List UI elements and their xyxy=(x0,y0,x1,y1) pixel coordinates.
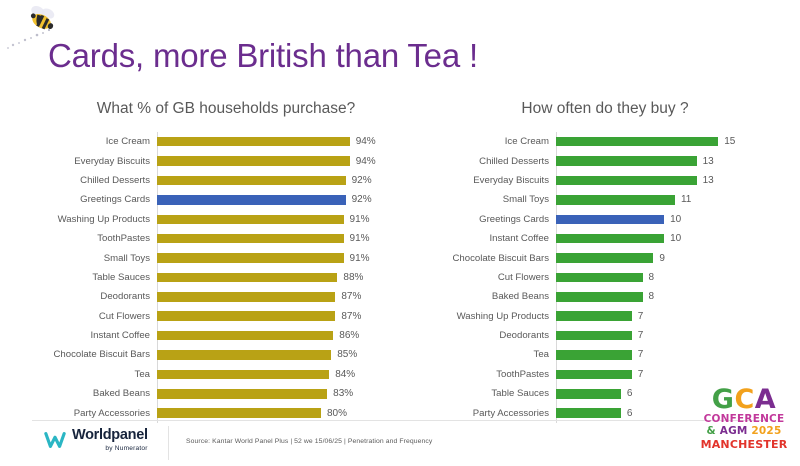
bar-area: 91% xyxy=(157,229,406,248)
bar xyxy=(556,408,621,418)
bar xyxy=(556,137,718,147)
bar-area: 83% xyxy=(157,384,406,403)
bar-area: 94% xyxy=(157,132,406,151)
bee-icon xyxy=(26,6,60,36)
chart-row: Chilled Desserts13 xyxy=(420,151,780,170)
bar xyxy=(157,234,344,244)
bar-area: 92% xyxy=(157,171,406,190)
bar-value-label: 87% xyxy=(341,291,361,302)
chart-row: Tea84% xyxy=(26,365,406,384)
bar-highlighted xyxy=(157,195,346,205)
bar-category-label: Ice Cream xyxy=(420,136,556,147)
bar-area: 10 xyxy=(556,229,780,248)
bar-value-label: 13 xyxy=(703,175,714,186)
bar-category-label: Table Sauces xyxy=(420,388,556,399)
bar xyxy=(157,331,333,341)
bar xyxy=(157,137,350,147)
bar-category-label: Washing Up Products xyxy=(26,214,157,225)
bar-category-label: Deodorants xyxy=(26,291,157,302)
footer-separator xyxy=(168,426,169,460)
bar-category-label: Everyday Biscuits xyxy=(420,175,556,186)
bar-area: 8 xyxy=(556,268,780,287)
bar-value-label: 84% xyxy=(335,369,355,380)
bar-category-label: Baked Beans xyxy=(26,388,157,399)
gca-letter-a: A xyxy=(755,384,776,415)
chart-frequency: How often do they buy ? Ice Cream15Chill… xyxy=(420,100,780,420)
bar-value-label: 91% xyxy=(350,214,370,225)
bar xyxy=(556,292,643,302)
bar-value-label: 91% xyxy=(350,233,370,244)
bar xyxy=(157,370,329,380)
chart-row: Washing Up Products7 xyxy=(420,307,780,326)
bar-value-label: 92% xyxy=(352,175,372,186)
bar-value-label: 94% xyxy=(356,156,376,167)
bar-area: 10 xyxy=(556,210,780,229)
chart-row: ToothPastes7 xyxy=(420,365,780,384)
bar-value-label: 9 xyxy=(659,253,665,264)
chart-row: Washing Up Products91% xyxy=(26,210,406,229)
chart-row: Chocolate Biscuit Bars9 xyxy=(420,248,780,267)
chart-rows-right: Ice Cream15Chilled Desserts13Everyday Bi… xyxy=(420,132,780,423)
bar-value-label: 7 xyxy=(638,349,644,360)
bar-category-label: ToothPastes xyxy=(420,369,556,380)
chart-row: Chocolate Biscuit Bars85% xyxy=(26,345,406,364)
bar xyxy=(556,273,643,283)
bar-value-label: 8 xyxy=(649,272,655,283)
bar-value-label: 88% xyxy=(343,272,363,283)
bar-category-label: Instant Coffee xyxy=(420,233,556,244)
bar-area: 15 xyxy=(556,132,780,151)
chart-row: Greetings Cards10 xyxy=(420,210,780,229)
bar-value-label: 13 xyxy=(703,156,714,167)
bar-value-label: 6 xyxy=(627,388,633,399)
bar xyxy=(157,292,335,302)
bar-category-label: Cut Flowers xyxy=(420,272,556,283)
bar xyxy=(157,176,346,186)
bar-category-label: Table Sauces xyxy=(26,272,157,283)
bar-value-label: 7 xyxy=(638,369,644,380)
gca-event-logo: GCA CONFERENCE & AGM 2025 MANCHESTER xyxy=(698,386,790,460)
bar-category-label: Party Accessories xyxy=(420,408,556,419)
bar-category-label: Chilled Desserts xyxy=(26,175,157,186)
page-title: Cards, more British than Tea ! xyxy=(48,36,478,76)
bar-category-label: Ice Cream xyxy=(26,136,157,147)
bar-area: 9 xyxy=(556,248,780,267)
bar-value-label: 87% xyxy=(341,311,361,322)
gca-letter-g: G xyxy=(712,384,735,415)
bar-area: 11 xyxy=(556,190,780,209)
chart-row: Baked Beans8 xyxy=(420,287,780,306)
bar xyxy=(157,253,344,263)
bar-area: 7 xyxy=(556,345,780,364)
bar-value-label: 8 xyxy=(649,291,655,302)
chart-row: Table Sauces88% xyxy=(26,268,406,287)
bar-category-label: ToothPastes xyxy=(26,233,157,244)
bar xyxy=(157,215,344,225)
bar xyxy=(157,350,331,360)
gca-ampersand: & xyxy=(707,425,716,437)
chart-row: Instant Coffee10 xyxy=(420,229,780,248)
bar-value-label: 7 xyxy=(638,311,644,322)
gca-letter-c: C xyxy=(734,384,754,415)
bar-value-label: 80% xyxy=(327,408,347,419)
gca-agm-line: & AGM 2025 xyxy=(698,425,790,438)
bar xyxy=(556,311,632,321)
bar-category-label: Chocolate Biscuit Bars xyxy=(26,349,157,360)
chart-row: Ice Cream15 xyxy=(420,132,780,151)
bar-value-label: 94% xyxy=(356,136,376,147)
bar xyxy=(157,156,350,166)
bar-category-label: Chilled Desserts xyxy=(420,156,556,167)
bar-area: 7 xyxy=(556,307,780,326)
chart-row: Everyday Biscuits94% xyxy=(26,151,406,170)
chart-title-right: How often do they buy ? xyxy=(420,100,780,118)
bar xyxy=(157,311,335,321)
bar-value-label: 6 xyxy=(627,408,633,419)
bar-value-label: 11 xyxy=(681,194,691,205)
bar-value-label: 86% xyxy=(339,330,359,341)
bar xyxy=(556,350,632,360)
bar-area: 86% xyxy=(157,326,406,345)
bar-category-label: Small Toys xyxy=(420,194,556,205)
chart-row: Small Toys91% xyxy=(26,248,406,267)
bar-category-label: Everyday Biscuits xyxy=(26,156,157,167)
bar-category-label: Tea xyxy=(26,369,157,380)
bar xyxy=(556,156,697,166)
chart-row: Instant Coffee86% xyxy=(26,326,406,345)
bar-value-label: 92% xyxy=(352,194,372,205)
worldpanel-subtitle: by Numerator xyxy=(72,446,148,453)
bar-category-label: Baked Beans xyxy=(420,291,556,302)
gca-agm-text: AGM xyxy=(720,425,748,437)
bar-area: 7 xyxy=(556,326,780,345)
bar xyxy=(157,408,321,418)
chart-row: Cut Flowers8 xyxy=(420,268,780,287)
chart-row: Small Toys11 xyxy=(420,190,780,209)
chart-row: Everyday Biscuits13 xyxy=(420,171,780,190)
chart-row: Chilled Desserts92% xyxy=(26,171,406,190)
bar-area: 87% xyxy=(157,307,406,326)
bar xyxy=(556,195,675,205)
chart-row: Greetings Cards92% xyxy=(26,190,406,209)
worldpanel-name: Worldpanel xyxy=(72,428,148,443)
gca-city: MANCHESTER xyxy=(698,438,790,451)
bar-area: 94% xyxy=(157,151,406,170)
bar-category-label: Deodorants xyxy=(420,330,556,341)
bar-value-label: 10 xyxy=(670,214,681,225)
chart-row: Deodorants7 xyxy=(420,326,780,345)
footer: Worldpanel by Numerator Source: Kantar W… xyxy=(0,420,800,466)
chart-row: ToothPastes91% xyxy=(26,229,406,248)
chart-row: Baked Beans83% xyxy=(26,384,406,403)
chart-rows-left: Ice Cream94%Everyday Biscuits94%Chilled … xyxy=(26,132,406,423)
bar-category-label: Greetings Cards xyxy=(26,194,157,205)
gca-conference-text: CONFERENCE xyxy=(698,413,790,425)
bar xyxy=(157,273,337,283)
bar xyxy=(556,176,697,186)
chart-penetration: What % of GB households purchase? Ice Cr… xyxy=(26,100,406,420)
bar xyxy=(556,234,664,244)
bar-area: 91% xyxy=(157,248,406,267)
bar-area: 8 xyxy=(556,287,780,306)
bar-area: 85% xyxy=(157,345,406,364)
bar-value-label: 15 xyxy=(724,136,735,147)
bar xyxy=(556,253,653,263)
bar-category-label: Small Toys xyxy=(26,253,157,264)
bar-category-label: Washing Up Products xyxy=(420,311,556,322)
bar-category-label: Tea xyxy=(420,349,556,360)
gca-acronym: GCA xyxy=(698,386,790,413)
bar xyxy=(556,331,632,341)
footer-divider xyxy=(32,420,768,421)
chart-row: Tea7 xyxy=(420,345,780,364)
worldpanel-mark-icon xyxy=(44,429,66,451)
chart-title-left: What % of GB households purchase? xyxy=(26,100,406,118)
bar-area: 91% xyxy=(157,210,406,229)
bar-value-label: 10 xyxy=(670,233,681,244)
bar-area: 87% xyxy=(157,287,406,306)
chart-row: Cut Flowers87% xyxy=(26,307,406,326)
bar-area: 7 xyxy=(556,365,780,384)
bar-value-label: 91% xyxy=(350,253,370,264)
gca-year: 2025 xyxy=(751,425,781,437)
bar-category-label: Greetings Cards xyxy=(420,214,556,225)
bar-value-label: 85% xyxy=(337,349,357,360)
worldpanel-logo: Worldpanel by Numerator xyxy=(44,428,148,452)
slide: Cards, more British than Tea ! What % of… xyxy=(0,0,800,466)
bar-area: 13 xyxy=(556,151,780,170)
bar-value-label: 83% xyxy=(333,388,353,399)
bar xyxy=(157,389,327,399)
bar-area: 92% xyxy=(157,190,406,209)
bar-value-label: 7 xyxy=(638,330,644,341)
bar-category-label: Cut Flowers xyxy=(26,311,157,322)
source-note: Source: Kantar World Panel Plus | 52 we … xyxy=(186,438,432,445)
chart-row: Ice Cream94% xyxy=(26,132,406,151)
bar xyxy=(556,389,621,399)
bar-area: 13 xyxy=(556,171,780,190)
bar-highlighted xyxy=(556,215,664,225)
bar-category-label: Chocolate Biscuit Bars xyxy=(420,253,556,264)
bar-area: 88% xyxy=(157,268,406,287)
chart-row: Deodorants87% xyxy=(26,287,406,306)
bar-category-label: Party Accessories xyxy=(26,408,157,419)
bar xyxy=(556,370,632,380)
bar-area: 84% xyxy=(157,365,406,384)
bar-category-label: Instant Coffee xyxy=(26,330,157,341)
